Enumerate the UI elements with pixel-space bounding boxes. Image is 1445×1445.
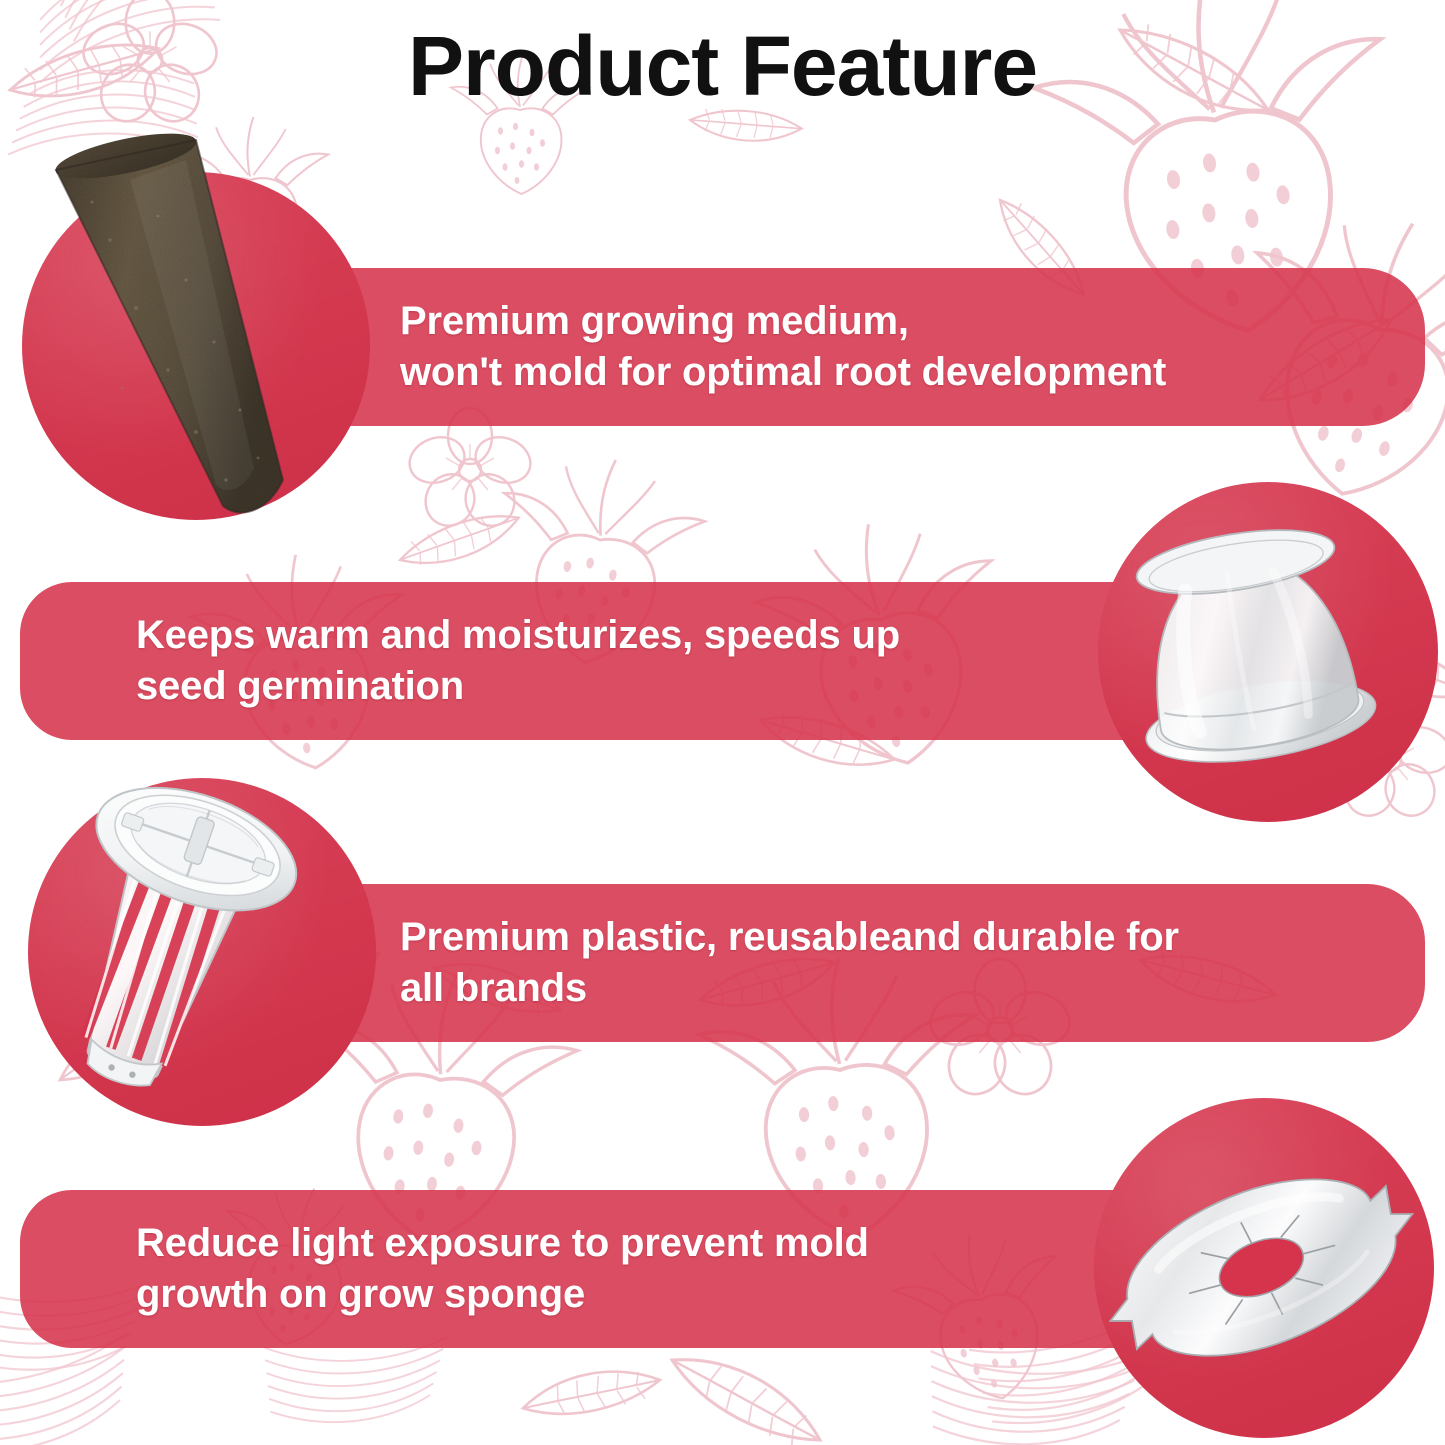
circle-shade-3 bbox=[28, 778, 376, 1126]
circle-clip-3 bbox=[28, 778, 376, 1126]
circle-shade-2 bbox=[1098, 482, 1438, 822]
circle-shade-1 bbox=[22, 172, 370, 520]
feature-text-3: Premium plastic, reusableand durable for… bbox=[400, 912, 1179, 1014]
circle-clip-2 bbox=[1098, 482, 1438, 822]
product-feature-poster: Product Feature Premium growing medium, … bbox=[0, 0, 1445, 1445]
feature-image-circle-2 bbox=[1098, 482, 1438, 822]
feature-text-2: Keeps warm and moisturizes, speeds up se… bbox=[136, 610, 900, 712]
feature-image-circle-1 bbox=[22, 172, 370, 520]
page-title: Product Feature bbox=[0, 22, 1445, 110]
feature-text-1: Premium growing medium, won't mold for o… bbox=[400, 296, 1166, 398]
feature-image-circle-3 bbox=[28, 778, 376, 1126]
circle-clip-1 bbox=[22, 172, 370, 520]
feature-text-4: Reduce light exposure to prevent mold gr… bbox=[136, 1218, 869, 1320]
feature-image-circle-4 bbox=[1094, 1098, 1434, 1438]
circle-clip-4 bbox=[1094, 1098, 1434, 1438]
circle-shade-4 bbox=[1094, 1098, 1434, 1438]
